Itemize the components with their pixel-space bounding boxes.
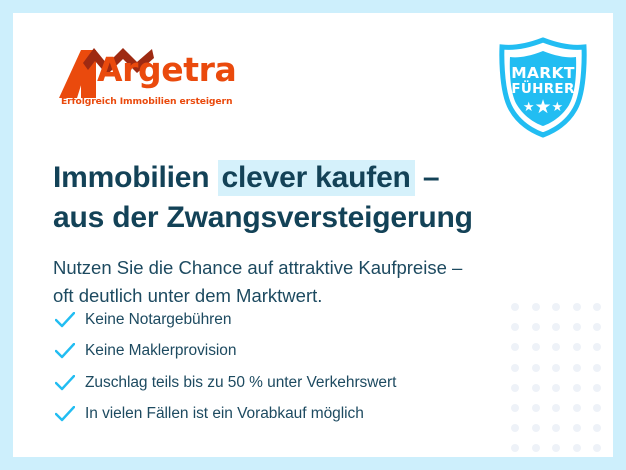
list-item: Keine Maklerprovision <box>55 336 525 368</box>
check-icon <box>55 312 85 328</box>
dot <box>552 384 560 392</box>
list-item: In vielen Fällen ist ein Vorabkauf mögli… <box>55 399 525 431</box>
dot <box>573 444 581 452</box>
page-title: Immobilien clever kaufen – aus der Zwang… <box>53 158 543 238</box>
dot <box>532 323 540 331</box>
headline-line-2: aus der Zwangsversteigerung <box>53 198 543 238</box>
dot <box>552 303 560 311</box>
dot <box>532 404 540 412</box>
dot <box>573 343 581 351</box>
check-icon <box>55 406 85 422</box>
dot <box>593 303 601 311</box>
dot <box>593 404 601 412</box>
promo-banner: Argetra Erfolgreich Immobilien ersteiger… <box>0 0 626 470</box>
dot <box>573 364 581 372</box>
dot <box>552 343 560 351</box>
dot <box>552 404 560 412</box>
feature-label: In vielen Fällen ist ein Vorabkauf mögli… <box>85 405 364 423</box>
banner-canvas: Argetra Erfolgreich Immobilien ersteiger… <box>13 13 613 457</box>
dot <box>532 424 540 432</box>
feature-label: Keine Maklerprovision <box>85 342 236 360</box>
dot <box>532 343 540 351</box>
feature-label: Zuschlag teils bis zu 50 % unter Verkehr… <box>85 374 396 392</box>
badge-line-2: FÜHRER <box>491 81 595 97</box>
dot <box>552 444 560 452</box>
feature-list: Keine Notargebühren Keine Maklerprovisio… <box>55 304 525 430</box>
logo-wordmark: Argetra <box>97 53 236 86</box>
dot <box>552 424 560 432</box>
dot <box>573 384 581 392</box>
headline-prefix: Immobilien <box>53 161 218 194</box>
dot <box>532 364 540 372</box>
dot <box>532 384 540 392</box>
list-item: Keine Notargebühren <box>55 304 525 336</box>
check-icon <box>55 343 85 359</box>
dot <box>573 424 581 432</box>
headline-line-1: Immobilien clever kaufen – <box>53 158 543 198</box>
dot <box>552 364 560 372</box>
subtitle-line-1: Nutzen Sie die Chance auf attraktive Kau… <box>53 254 553 282</box>
page-subtitle: Nutzen Sie die Chance auf attraktive Kau… <box>53 254 553 310</box>
badge-stars-icon: ★★★ <box>491 98 595 117</box>
list-item: Zuschlag teils bis zu 50 % unter Verkehr… <box>55 367 525 399</box>
dot <box>552 323 560 331</box>
badge-line-1: MARKT <box>491 64 595 82</box>
logo-tagline: Erfolgreich Immobilien ersteigern <box>61 96 232 107</box>
status-badge: MARKT FÜHRER ★★★ <box>491 35 595 139</box>
dot <box>511 444 519 452</box>
dot <box>573 404 581 412</box>
dot <box>593 323 601 331</box>
check-icon <box>55 375 85 391</box>
dot <box>573 303 581 311</box>
dot <box>593 444 601 452</box>
dot <box>593 364 601 372</box>
headline-suffix: – <box>415 161 440 194</box>
headline-highlight: clever kaufen <box>218 160 415 196</box>
dot <box>532 444 540 452</box>
dot <box>593 384 601 392</box>
argetra-logo[interactable]: Argetra Erfolgreich Immobilien ersteiger… <box>55 46 220 118</box>
dot <box>593 424 601 432</box>
dot <box>593 343 601 351</box>
feature-label: Keine Notargebühren <box>85 311 231 329</box>
dot <box>573 323 581 331</box>
